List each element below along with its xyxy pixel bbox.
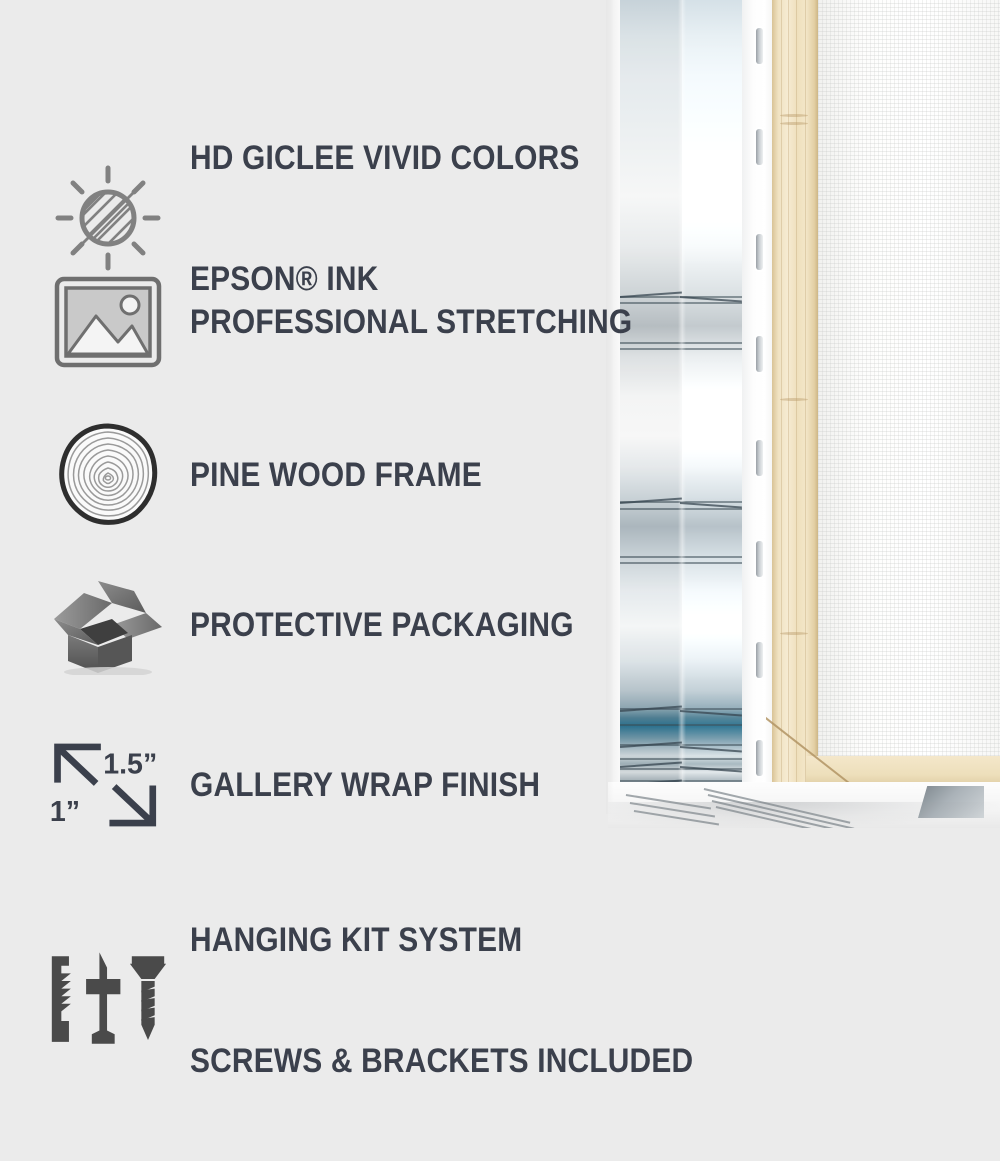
gallery-wrap-edge — [742, 0, 774, 808]
staple — [756, 234, 763, 270]
staple — [756, 28, 763, 64]
staple — [756, 541, 763, 577]
product-shadow — [608, 802, 1000, 828]
wood-grain-line — [796, 0, 797, 786]
feature-label-hanging: HANGING KIT SYSTEM SCREWS & BRACKETS INC… — [190, 840, 693, 1161]
dimension-bottom-label: 1” — [50, 796, 80, 828]
feature-line: GALLERY WRAP FINISH — [190, 765, 540, 805]
feature-line: PROFESSIONAL STRETCHING — [190, 302, 632, 342]
wood-knot — [780, 122, 808, 125]
feature-line: PINE WOOD FRAME — [190, 455, 482, 495]
wood-knot — [780, 398, 808, 401]
hanging-hardware-icon — [48, 948, 168, 1052]
staple — [756, 642, 763, 678]
wood-knot — [780, 632, 808, 635]
feature-line: HD GICLEE VIVID COLORS — [190, 138, 580, 178]
wood-grain-line — [781, 0, 782, 786]
open-box-icon — [48, 575, 168, 675]
feature-list: HD GICLEE VIVID COLORS EPSON® INK PROFES… — [0, 0, 660, 1000]
tree-rings-icon — [48, 423, 168, 527]
staple — [756, 129, 763, 165]
pine-stretcher-bar — [772, 0, 818, 786]
wood-grain-line — [788, 0, 789, 786]
feature-line: PROTECTIVE PACKAGING — [190, 605, 574, 645]
framed-picture-icon — [48, 276, 168, 368]
canvas-backing — [818, 0, 1000, 756]
staple — [756, 336, 763, 372]
feature-line: HANGING KIT SYSTEM — [190, 920, 693, 960]
feature-line: SCREWS & BRACKETS INCLUDED — [190, 1041, 693, 1081]
infographic-page: HD GICLEE VIVID COLORS EPSON® INK PROFES… — [0, 0, 1000, 1000]
art-pinstripe — [682, 562, 742, 564]
wood-knot — [780, 114, 808, 117]
dimension-top-label: 1.5” — [103, 749, 157, 781]
staple — [756, 740, 763, 776]
feature-row-hanging: HANGING KIT SYSTEM SCREWS & BRACKETS INC… — [48, 840, 762, 1161]
gallery-wrap-dimensions-icon: 1.5” 1” — [48, 733, 168, 837]
staple — [756, 440, 763, 476]
wood-grain-line — [805, 0, 806, 786]
art-pinstripe — [682, 556, 742, 558]
